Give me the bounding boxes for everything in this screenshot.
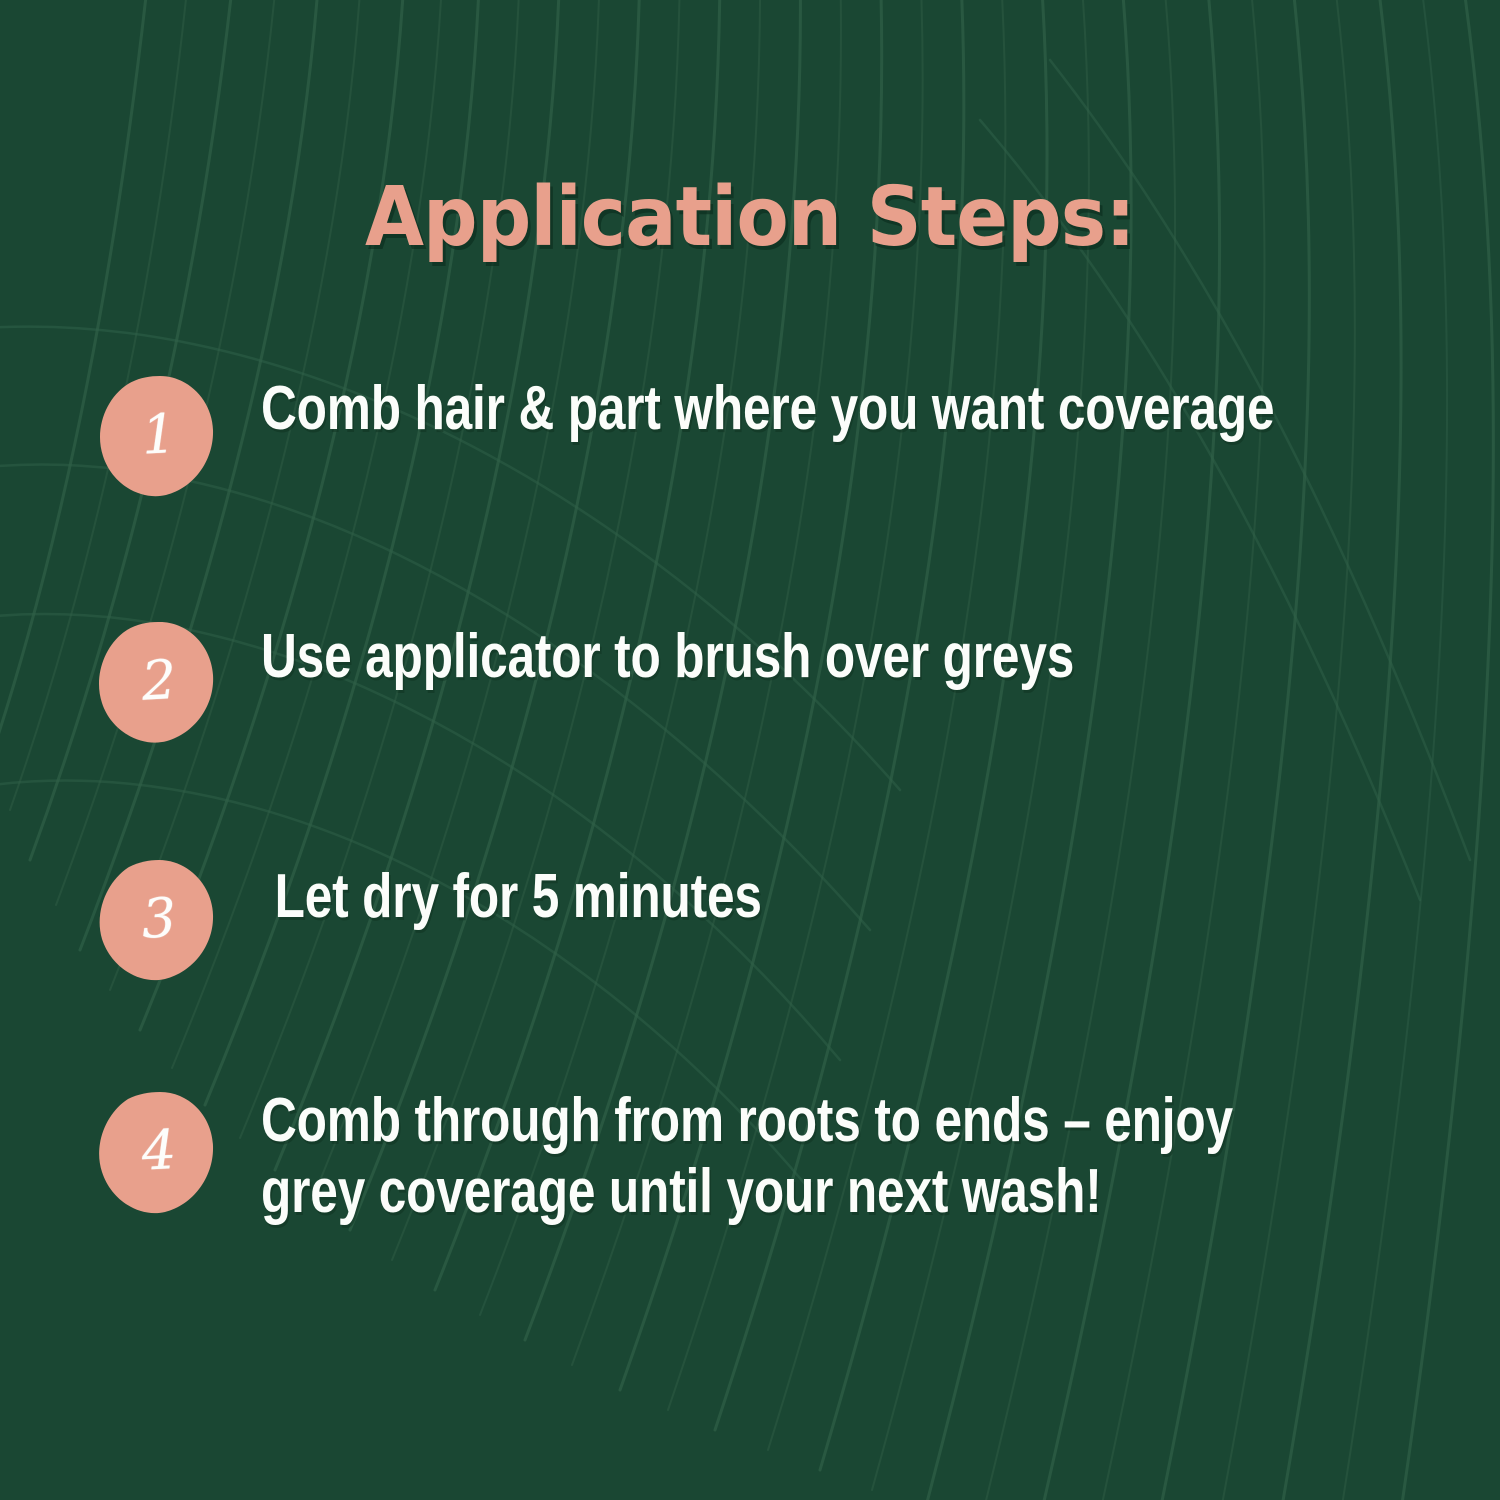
list-item: 4 Comb through from roots to ends – enjo… (0, 1076, 1500, 1316)
step-badge-1: 1 (98, 374, 214, 498)
step-description: Comb through from roots to ends – enjoy … (261, 1076, 1233, 1227)
step-badge-4: 4 (98, 1090, 214, 1214)
application-steps-poster: Application Steps: 1 Comb hair & part wh… (0, 0, 1500, 1500)
step-description: Let dry for 5 minutes (261, 840, 1204, 933)
step-number: 2 (95, 617, 217, 747)
step-number: 4 (95, 1087, 217, 1217)
list-item: 1 Comb hair & part where you want covera… (0, 352, 1500, 600)
page-title: Application Steps: (365, 177, 1135, 259)
step-number: 1 (95, 371, 217, 501)
step-badge-2: 2 (98, 620, 214, 744)
list-item: 2 Use applicator to brush over greys (0, 600, 1500, 840)
steps-list: 1 Comb hair & part where you want covera… (0, 352, 1500, 1316)
step-badge-3: 3 (98, 858, 214, 982)
step-description: Use applicator to brush over greys (261, 600, 1204, 693)
title-container: Application Steps: (0, 122, 1500, 314)
list-item: 3 Let dry for 5 minutes (0, 840, 1500, 1076)
step-description: Comb hair & part where you want coverage (261, 352, 1274, 445)
step-number: 3 (95, 855, 217, 985)
